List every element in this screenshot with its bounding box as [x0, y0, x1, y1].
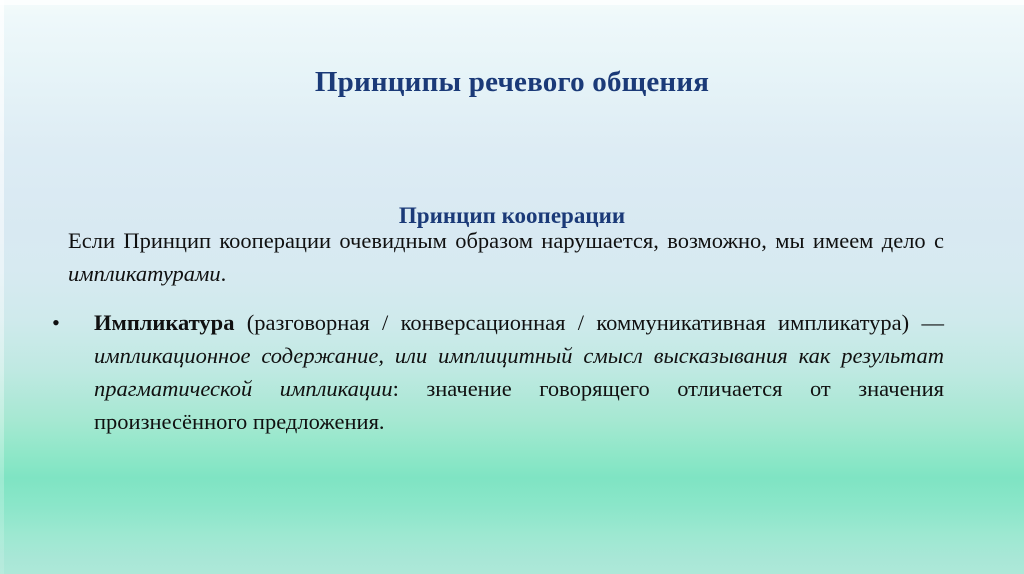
text-run-bold-implicature: Импликатура: [94, 310, 234, 335]
paragraph-cooperation-note: Если Принцип кооперации очевидным образо…: [68, 224, 944, 290]
text-run-parenthetical: (разговорная / конверсационная / коммуни…: [234, 310, 944, 335]
paragraph-implicature-definition: •Импликатура (разговорная / конверсацион…: [68, 306, 944, 438]
text-run-plain: Если Принцип кооперации очевидным образо…: [68, 228, 944, 253]
body-content: Если Принцип кооперации очевидным образо…: [68, 224, 944, 438]
text-run-period: .: [221, 261, 227, 286]
bullet-icon: •: [52, 306, 60, 339]
page-title: Принципы речевого общения: [0, 67, 1024, 99]
slide-canvas: Принципы речевого общения Принцип коопер…: [0, 0, 1024, 574]
text-run-italic-implicatures: импликатурами: [68, 261, 221, 286]
